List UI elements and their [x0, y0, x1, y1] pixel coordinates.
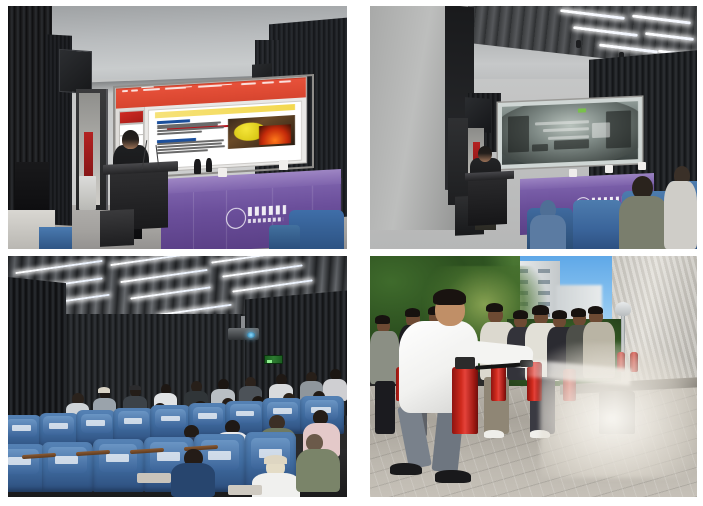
projection-screen [498, 97, 642, 169]
dark-chair [15, 162, 49, 215]
audience-body [530, 215, 566, 249]
photo-top-left[interactable] [8, 6, 347, 249]
student-hair [513, 310, 528, 319]
student-shoe [484, 430, 504, 438]
extinguisher-valve [455, 357, 475, 369]
loudspeaker-left [59, 49, 92, 95]
cctv-kitchen-footage [502, 101, 637, 164]
paper-cup [569, 169, 577, 177]
seat [93, 439, 144, 492]
powder-cloud [540, 343, 697, 478]
audience-body [171, 463, 215, 497]
audience-body [296, 449, 340, 492]
table-microphone [194, 159, 200, 174]
presenter-head [122, 130, 140, 149]
instructor-hair [433, 289, 466, 306]
exit-sign [264, 355, 283, 364]
student-hair [552, 310, 567, 319]
student-hair [588, 306, 604, 315]
tongji-logo-latin-text [247, 218, 282, 224]
photo-collage [0, 0, 703, 506]
instructor-head [478, 146, 492, 162]
seat [42, 442, 93, 493]
left-acoustic-wall [8, 277, 66, 432]
flight-case [100, 209, 134, 247]
audience-seat [573, 200, 622, 249]
lamp-head [615, 302, 631, 316]
photo-bottom-left[interactable] [8, 256, 347, 497]
side-door [448, 118, 468, 205]
student-body [370, 331, 399, 384]
student-hair [571, 308, 586, 317]
student-hair [532, 305, 548, 315]
audience-body [619, 196, 668, 249]
track-spotlight [576, 40, 581, 48]
seat [8, 444, 45, 492]
instructor-extinguisher [452, 367, 478, 434]
blue-seat [269, 225, 300, 249]
seat-desk-tablet [137, 473, 171, 483]
table-microphone [206, 158, 212, 173]
foreground-blue-box [39, 227, 73, 249]
student-hair [486, 303, 503, 313]
paper-cup [218, 168, 227, 178]
tongji-logo-chinese-text [247, 205, 285, 217]
audience-cap [264, 455, 288, 464]
audience-cap [129, 385, 141, 391]
audience-cap [98, 387, 110, 393]
lectern [468, 175, 507, 226]
student-hair [375, 315, 390, 324]
paper-cup [279, 160, 288, 170]
table-microphone [547, 166, 552, 178]
photo-top-right[interactable] [370, 6, 697, 249]
instructor-left-shoe [390, 463, 423, 475]
student-legs [375, 381, 395, 434]
audience-body [664, 181, 697, 249]
seat-desk-tablet [228, 485, 262, 495]
photo-bottom-right[interactable] [370, 256, 697, 497]
student-hair [405, 308, 421, 317]
paper-cup [605, 165, 613, 173]
instructor-right-shoe [435, 470, 471, 482]
tongji-seal-icon [225, 208, 245, 230]
waste-bin [79, 176, 96, 210]
paper-cup [638, 162, 646, 170]
